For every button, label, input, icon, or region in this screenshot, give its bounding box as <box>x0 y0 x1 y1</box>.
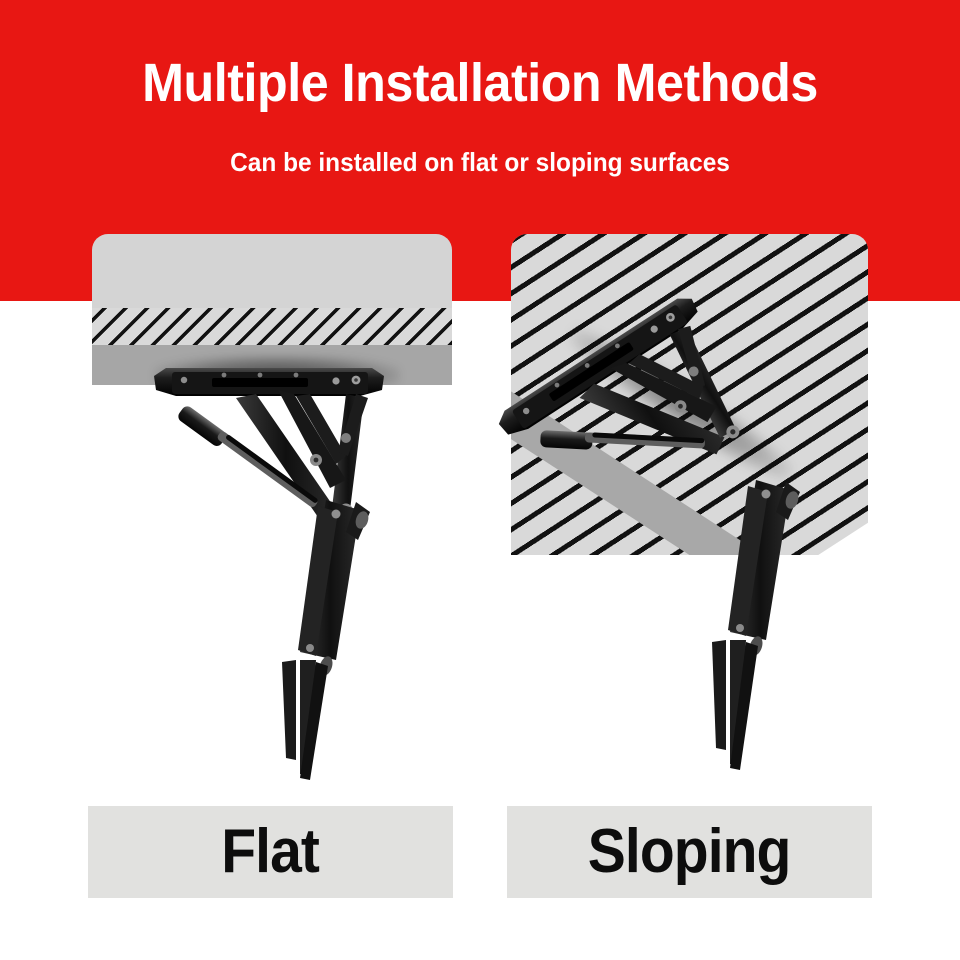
tv-bracket-icon <box>712 480 800 770</box>
page-title: Multiple Installation Methods <box>34 52 927 114</box>
scissor-arm-icon <box>575 319 757 500</box>
sloping-mount-assembly <box>560 320 890 790</box>
page-subtitle: Can be installed on flat or sloping surf… <box>29 146 931 178</box>
ceiling-plate-icon <box>154 368 384 396</box>
sloping-caption-box: Sloping <box>507 806 872 898</box>
flat-caption-label: Flat <box>222 819 320 885</box>
flat-caption-box: Flat <box>88 806 453 898</box>
sloping-caption-label: Sloping <box>588 819 791 885</box>
flat-mount-assembly <box>150 360 410 790</box>
infographic-page: Multiple Installation Methods Can be ins… <box>0 0 960 960</box>
flat-ceiling-hatching <box>92 308 452 345</box>
tv-bracket-icon <box>282 500 370 780</box>
